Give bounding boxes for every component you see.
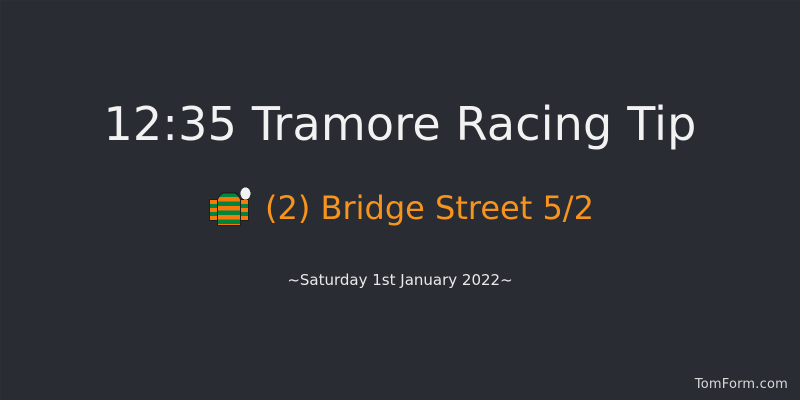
page-title: 12:35 Tramore Racing Tip (0, 96, 800, 152)
site-watermark: TomForm.com (695, 376, 788, 394)
tip-selection-text: (2) Bridge Street 5/2 (265, 188, 594, 228)
tip-card: 12:35 Tramore Racing Tip (0, 0, 800, 400)
tip-row: (2) Bridge Street 5/2 (0, 182, 800, 234)
race-date: ~Saturday 1st January 2022~ (0, 270, 800, 290)
jockey-silks-icon (206, 184, 254, 232)
